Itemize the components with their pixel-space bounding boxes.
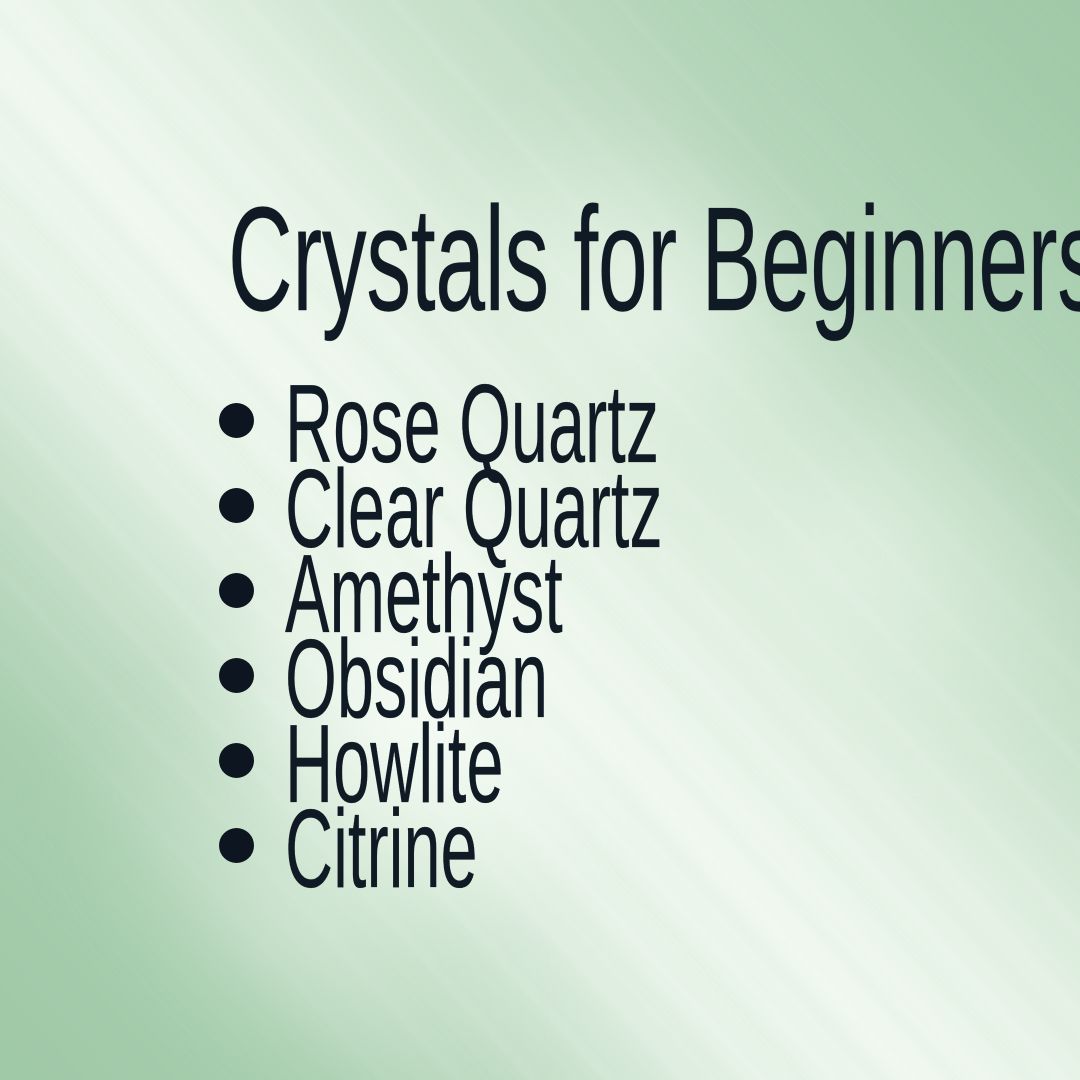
list-item: Citrine <box>219 803 841 888</box>
bullet-icon <box>219 658 254 693</box>
bullet-icon <box>219 743 254 778</box>
crystals-poster: Crystals for Beginners Rose Quartz Clear… <box>0 0 1080 1080</box>
crystal-list: Rose Quartz Clear Quartz Amethyst Obsidi… <box>219 378 841 888</box>
bullet-icon <box>219 573 254 608</box>
bullet-icon <box>219 828 254 863</box>
bullet-icon <box>219 403 254 438</box>
page-title: Crystals for Beginners <box>228 186 718 334</box>
list-item-label: Citrine <box>285 792 478 904</box>
bullet-icon <box>219 488 254 523</box>
poster-content: Crystals for Beginners Rose Quartz Clear… <box>0 0 1080 1080</box>
